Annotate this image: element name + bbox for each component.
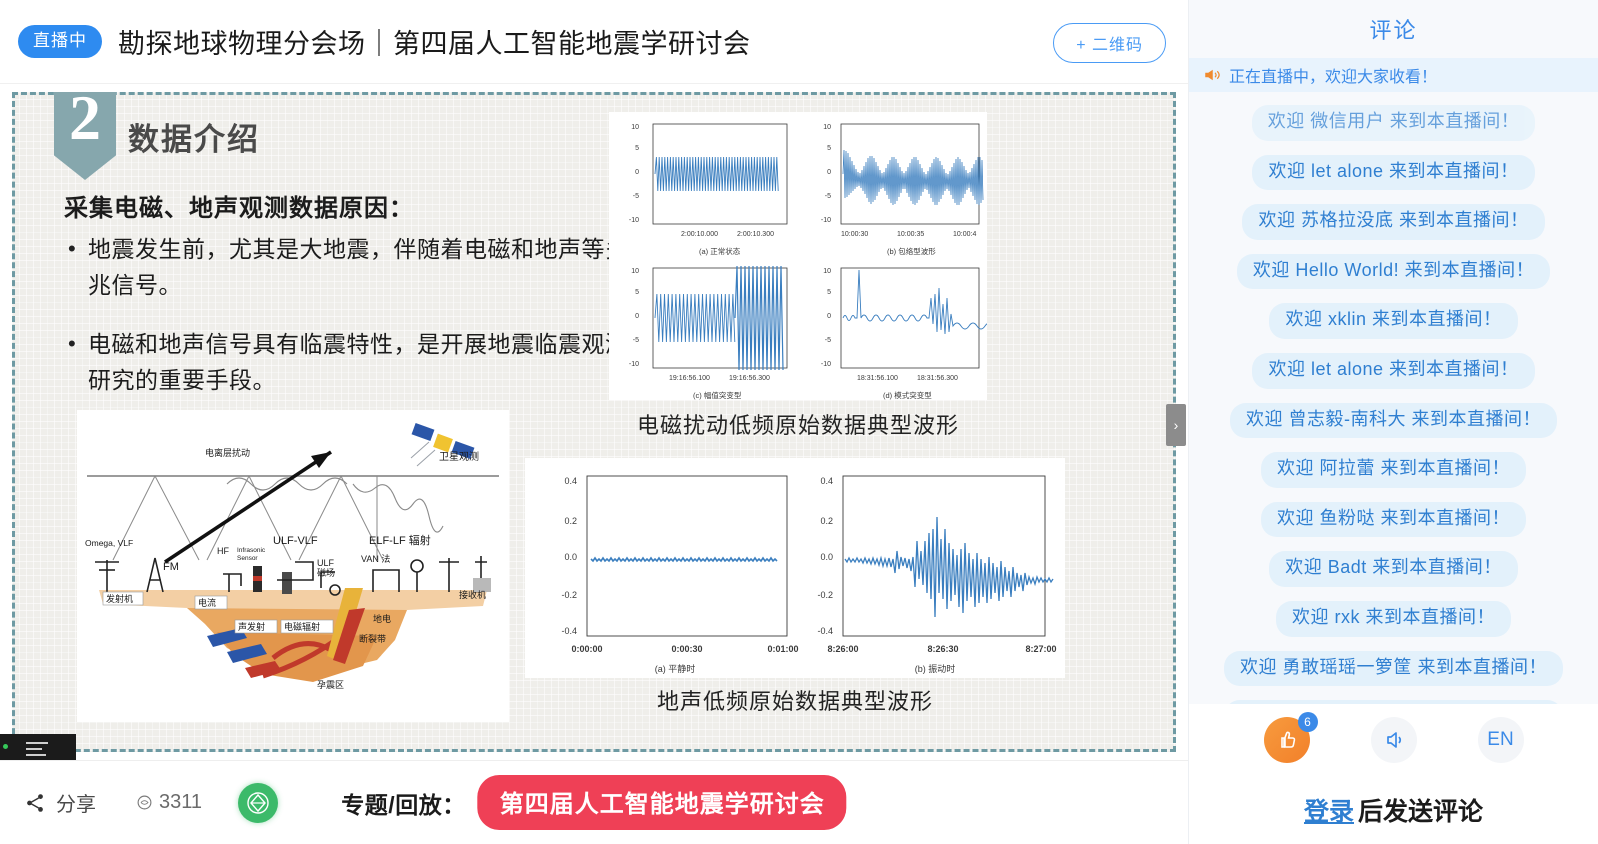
player-column: 直播中 勘探地球物理分会场｜第四届人工智能地震学研讨会 + 二维码 2 数据介绍… xyxy=(0,0,1188,844)
svg-text:(a) 平静时: (a) 平静时 xyxy=(655,663,696,674)
svg-text:-0.4: -0.4 xyxy=(817,626,833,636)
like-button[interactable]: 6 xyxy=(1264,717,1310,763)
svg-text:5: 5 xyxy=(827,145,831,152)
slide-stage: 2 数据介绍 采集电磁、地声观测数据原因： • 地震发生前，尤其是大地震，伴随着… xyxy=(0,84,1188,760)
list-item: 欢迎 Badt 来到本直播间！ xyxy=(1201,544,1586,594)
svg-text:地电: 地电 xyxy=(373,613,391,624)
svg-text:HF: HF xyxy=(217,546,229,556)
svg-text:Infrasonic: Infrasonic xyxy=(237,547,266,554)
speaker-icon xyxy=(1382,728,1406,752)
eye-icon xyxy=(136,794,153,811)
list-item: 欢迎 曾志毅-南科大 来到本直播间！ xyxy=(1201,396,1586,446)
svg-text:(c) 幅值突变型: (c) 幅值突变型 xyxy=(693,390,742,400)
comment-bubble: 欢迎 xklin 来到本直播间！ xyxy=(1269,303,1517,339)
like-count-badge: 6 xyxy=(1298,712,1318,732)
list-item: 欢迎 let alone 来到本直播间！ xyxy=(1201,148,1586,198)
comment-bubble: 欢迎 微信用户 来到本直播间！ xyxy=(1252,105,1536,141)
svg-text:0:00:00: 0:00:00 xyxy=(571,644,602,654)
login-prompt-text: 后发送评论 xyxy=(1358,792,1483,828)
login-link[interactable]: 登录 xyxy=(1304,792,1354,828)
section-number: 2 xyxy=(69,86,101,150)
comments-header: 评论 xyxy=(1189,0,1598,58)
section-number-badge: 2 xyxy=(54,92,116,180)
svg-text:10:00:4: 10:00:4 xyxy=(953,231,976,238)
comment-bubble: 欢迎 rxk 来到本直播间！ xyxy=(1276,601,1511,637)
view-count: 3311 xyxy=(136,791,202,814)
svg-text:8:26:30: 8:26:30 xyxy=(927,644,958,654)
thumbs-up-icon xyxy=(1275,728,1299,752)
svg-text:-10: -10 xyxy=(821,217,831,224)
svg-text:10:00:30: 10:00:30 xyxy=(841,231,868,238)
svg-text:18:31:56.300: 18:31:56.300 xyxy=(917,375,958,382)
svg-text:ULF-VLF: ULF-VLF xyxy=(273,535,318,547)
next-slide-arrow-button[interactable]: › xyxy=(1166,404,1186,446)
svg-text:电离层扰动: 电离层扰动 xyxy=(205,447,250,458)
language-label: EN xyxy=(1487,729,1513,751)
live-stream-page: 直播中 勘探地球物理分会场｜第四届人工智能地震学研讨会 + 二维码 2 数据介绍… xyxy=(0,0,1598,844)
comment-list[interactable]: 欢迎 微信用户 来到本直播间！ 欢迎 let alone 来到本直播间！ 欢迎 … xyxy=(1189,92,1598,704)
section-title: 数据介绍 xyxy=(128,114,260,159)
svg-text:10: 10 xyxy=(631,124,639,131)
page-title: 勘探地球物理分会场｜第四届人工智能地震学研讨会 xyxy=(118,22,751,61)
view-count-value: 3311 xyxy=(159,791,202,814)
live-notice-text: 正在直播中，欢迎大家收看！ xyxy=(1229,63,1437,87)
svg-text:0:01:00: 0:01:00 xyxy=(767,644,798,654)
svg-text:-5: -5 xyxy=(633,337,639,344)
em-waveform-figure: 10 5 0 -5 -10 2:00:10.0002:00:10.300 (a)… xyxy=(609,112,987,400)
svg-text:8:27:00: 8:27:00 xyxy=(1025,644,1056,654)
topic-label: 专题/回放： xyxy=(341,786,465,820)
svg-text:ULF: ULF xyxy=(317,558,335,568)
svg-text:0.2: 0.2 xyxy=(820,516,833,526)
svg-text:0: 0 xyxy=(635,313,639,320)
comment-bubble: 欢迎 Badt 来到本直播间！ xyxy=(1269,551,1518,587)
svg-text:-5: -5 xyxy=(825,337,831,344)
svg-text:发射机: 发射机 xyxy=(106,593,133,604)
geoacoustic-waveform-figure: 0.4 0.2 0.0 -0.2 -0.4 0:00:00 0:00:30 0:… xyxy=(525,458,1065,678)
bullet-text: 地震发生前，尤其是大地震，伴随着电磁和地声等多种前兆信号。 xyxy=(88,232,688,303)
svg-text:声发射: 声发射 xyxy=(238,621,265,632)
live-status-badge: 直播中 xyxy=(18,25,102,58)
slide-bullet-list: • 地震发生前，尤其是大地震，伴随着电磁和地声等多种前兆信号。 • 电磁和地声信… xyxy=(68,232,688,423)
share-button[interactable]: 分享 xyxy=(24,788,96,817)
svg-text:磁场: 磁场 xyxy=(317,567,335,578)
svg-text:0: 0 xyxy=(827,169,831,176)
comment-bubble: 欢迎 阿拉蕾 来到本直播间！ xyxy=(1261,452,1526,488)
svg-text:-10: -10 xyxy=(821,361,831,368)
svg-text:2:00:10.300: 2:00:10.300 xyxy=(737,231,774,238)
svg-text:0:00:30: 0:00:30 xyxy=(671,644,702,654)
comment-bubble: 欢迎 勇敢瑶瑶一箩筐 来到本直播间！ xyxy=(1224,651,1563,687)
bullet-dot-icon: • xyxy=(68,327,88,398)
svg-text:0.0: 0.0 xyxy=(820,552,833,562)
svg-text:(a) 正常状态: (a) 正常状态 xyxy=(699,246,741,256)
thumbnail-line xyxy=(26,748,42,750)
svg-text:5: 5 xyxy=(827,289,831,296)
svg-text:0.0: 0.0 xyxy=(564,552,577,562)
geoacoustic-figure-caption: 地声低频原始数据典型波形 xyxy=(525,684,1065,716)
svg-text:10: 10 xyxy=(823,268,831,275)
list-item: • 地震发生前，尤其是大地震，伴随着电磁和地声等多种前兆信号。 xyxy=(68,232,688,303)
svg-text:0.4: 0.4 xyxy=(820,476,833,486)
svg-text:接收机: 接收机 xyxy=(459,589,486,600)
comment-bubble: 欢迎 苏格拉没底 来到本直播间！ xyxy=(1242,204,1544,240)
svg-text:8:26:00: 8:26:00 xyxy=(827,644,858,654)
topic-section: 专题/回放： 第四届人工智能地震学研讨会 xyxy=(341,775,846,830)
svg-text:-0.2: -0.2 xyxy=(561,590,577,600)
bullet-dot-icon: • xyxy=(68,232,88,303)
svg-text:Sensor: Sensor xyxy=(237,555,258,562)
thumbnail-line xyxy=(26,742,48,744)
comment-action-bar: 6 EN xyxy=(1189,704,1598,776)
list-item: • 电磁和地声信号具有临震特性，是开展地震临震观测预测研究的重要手段。 xyxy=(68,327,688,398)
svg-text:-5: -5 xyxy=(825,193,831,200)
topic-pill-button[interactable]: 第四届人工智能地震学研讨会 xyxy=(478,775,847,830)
svg-text:电磁辐射: 电磁辐射 xyxy=(284,621,320,632)
svg-text:0.4: 0.4 xyxy=(564,476,577,486)
svg-text:孕震区: 孕震区 xyxy=(317,680,344,690)
comment-bubble: 欢迎 Hello World! 来到本直播间！ xyxy=(1237,254,1550,290)
svg-text:(d) 模式突变型: (d) 模式突变型 xyxy=(883,390,932,400)
slide-lead-text: 采集电磁、地声观测数据原因： xyxy=(64,188,414,223)
svg-text:FM: FM xyxy=(163,561,179,573)
svg-text:5: 5 xyxy=(635,289,639,296)
comment-login-prompt: 登录 后发送评论 xyxy=(1189,776,1598,844)
list-item: 欢迎 let alone 来到本直播间！ xyxy=(1201,346,1586,396)
wechat-share-button[interactable] xyxy=(238,783,278,823)
sound-toggle-button[interactable] xyxy=(1371,717,1417,763)
live-notice-bar: 正在直播中，欢迎大家收看！ xyxy=(1189,58,1598,92)
comment-bubble: 欢迎 let alone 来到本直播间！ xyxy=(1252,155,1534,191)
presentation-slide: 2 数据介绍 采集电磁、地声观测数据原因： • 地震发生前，尤其是大地震，伴随着… xyxy=(12,92,1176,752)
svg-text:-10: -10 xyxy=(629,217,639,224)
player-bottom-bar: 分享 3311 专题/回放： 第四届人工智能地震学研讨会 xyxy=(0,760,1188,844)
comment-bubble: 欢迎 let alone 来到本直播间！ xyxy=(1252,353,1534,389)
svg-text:10: 10 xyxy=(631,268,639,275)
svg-text:2:00:10.000: 2:00:10.000 xyxy=(681,231,718,238)
svg-text:(b) 包络型波形: (b) 包络型波形 xyxy=(887,246,936,256)
share-label: 分享 xyxy=(56,788,96,817)
list-item: 欢迎 xklin 来到本直播间！ xyxy=(1201,296,1586,346)
page-header: 直播中 勘探地球物理分会场｜第四届人工智能地震学研讨会 + 二维码 xyxy=(0,0,1188,84)
comment-bubble: 欢迎 鱼粉哒 来到本直播间！ xyxy=(1261,502,1526,538)
megaphone-icon xyxy=(1203,66,1221,84)
svg-text:19:16:56.100: 19:16:56.100 xyxy=(669,375,710,382)
svg-text:19:16:56.300: 19:16:56.300 xyxy=(729,375,770,382)
comments-column: 评论 正在直播中，欢迎大家收看！ 欢迎 微信用户 来到本直播间！ 欢迎 let … xyxy=(1188,0,1598,844)
svg-text:断裂带: 断裂带 xyxy=(359,633,386,644)
recording-dot-icon xyxy=(3,744,8,749)
svg-text:电流: 电流 xyxy=(198,597,216,608)
list-item: 欢迎 Hello World! 来到本直播间！ xyxy=(1201,247,1586,297)
thumbnail-line xyxy=(26,754,46,756)
svg-text:10:00:35: 10:00:35 xyxy=(897,231,924,238)
list-item: 欢迎 阿拉蕾 来到本直播间！ xyxy=(1201,445,1586,495)
list-item: 欢迎 微信用户 来到本直播间！ xyxy=(1201,98,1586,148)
svg-text:-0.4: -0.4 xyxy=(561,626,577,636)
svg-text:-0.2: -0.2 xyxy=(817,590,833,600)
list-item: 欢迎 勇敢瑶瑶一箩筐 来到本直播间！ xyxy=(1201,693,1586,704)
svg-text:-10: -10 xyxy=(629,361,639,368)
svg-text:Omega, VLF: Omega, VLF xyxy=(85,538,133,548)
svg-text:卫星观测: 卫星观测 xyxy=(439,450,479,463)
share-icon xyxy=(24,792,46,814)
svg-text:0: 0 xyxy=(827,313,831,320)
svg-text:18:31:56.100: 18:31:56.100 xyxy=(857,375,898,382)
svg-text:ELF-LF 辐射: ELF-LF 辐射 xyxy=(369,533,431,547)
diamond-compass-icon xyxy=(246,791,270,815)
svg-text:VAN 法: VAN 法 xyxy=(361,553,390,564)
bullet-text: 电磁和地声信号具有临震特性，是开展地震临震观测预测研究的重要手段。 xyxy=(88,327,688,398)
comment-bubble: 欢迎 曾志毅-南科大 来到本直播间！ xyxy=(1230,403,1557,439)
em-figure-caption: 电磁扰动低频原始数据典型波形 xyxy=(609,408,987,440)
language-toggle-button[interactable]: EN xyxy=(1478,717,1524,763)
svg-text:(b) 振动时: (b) 振动时 xyxy=(915,663,956,674)
svg-text:10: 10 xyxy=(823,124,831,131)
svg-text:0.2: 0.2 xyxy=(564,516,577,526)
list-item: 欢迎 rxk 来到本直播间！ xyxy=(1201,594,1586,644)
svg-text:0: 0 xyxy=(635,169,639,176)
svg-text:5: 5 xyxy=(635,145,639,152)
presenter-camera-thumbnail[interactable] xyxy=(0,734,76,760)
list-item: 欢迎 勇敢瑶瑶一箩筐 来到本直播间！ xyxy=(1201,644,1586,694)
list-item: 欢迎 鱼粉哒 来到本直播间！ xyxy=(1201,495,1586,545)
qr-code-button[interactable]: + 二维码 xyxy=(1053,23,1166,63)
svg-text:-5: -5 xyxy=(633,193,639,200)
list-item: 欢迎 苏格拉没底 来到本直播间！ xyxy=(1201,197,1586,247)
earthquake-precursor-diagram: 电离层扰动 卫星观测 Omega, VLF FM HF Infrasonic S… xyxy=(77,410,509,722)
